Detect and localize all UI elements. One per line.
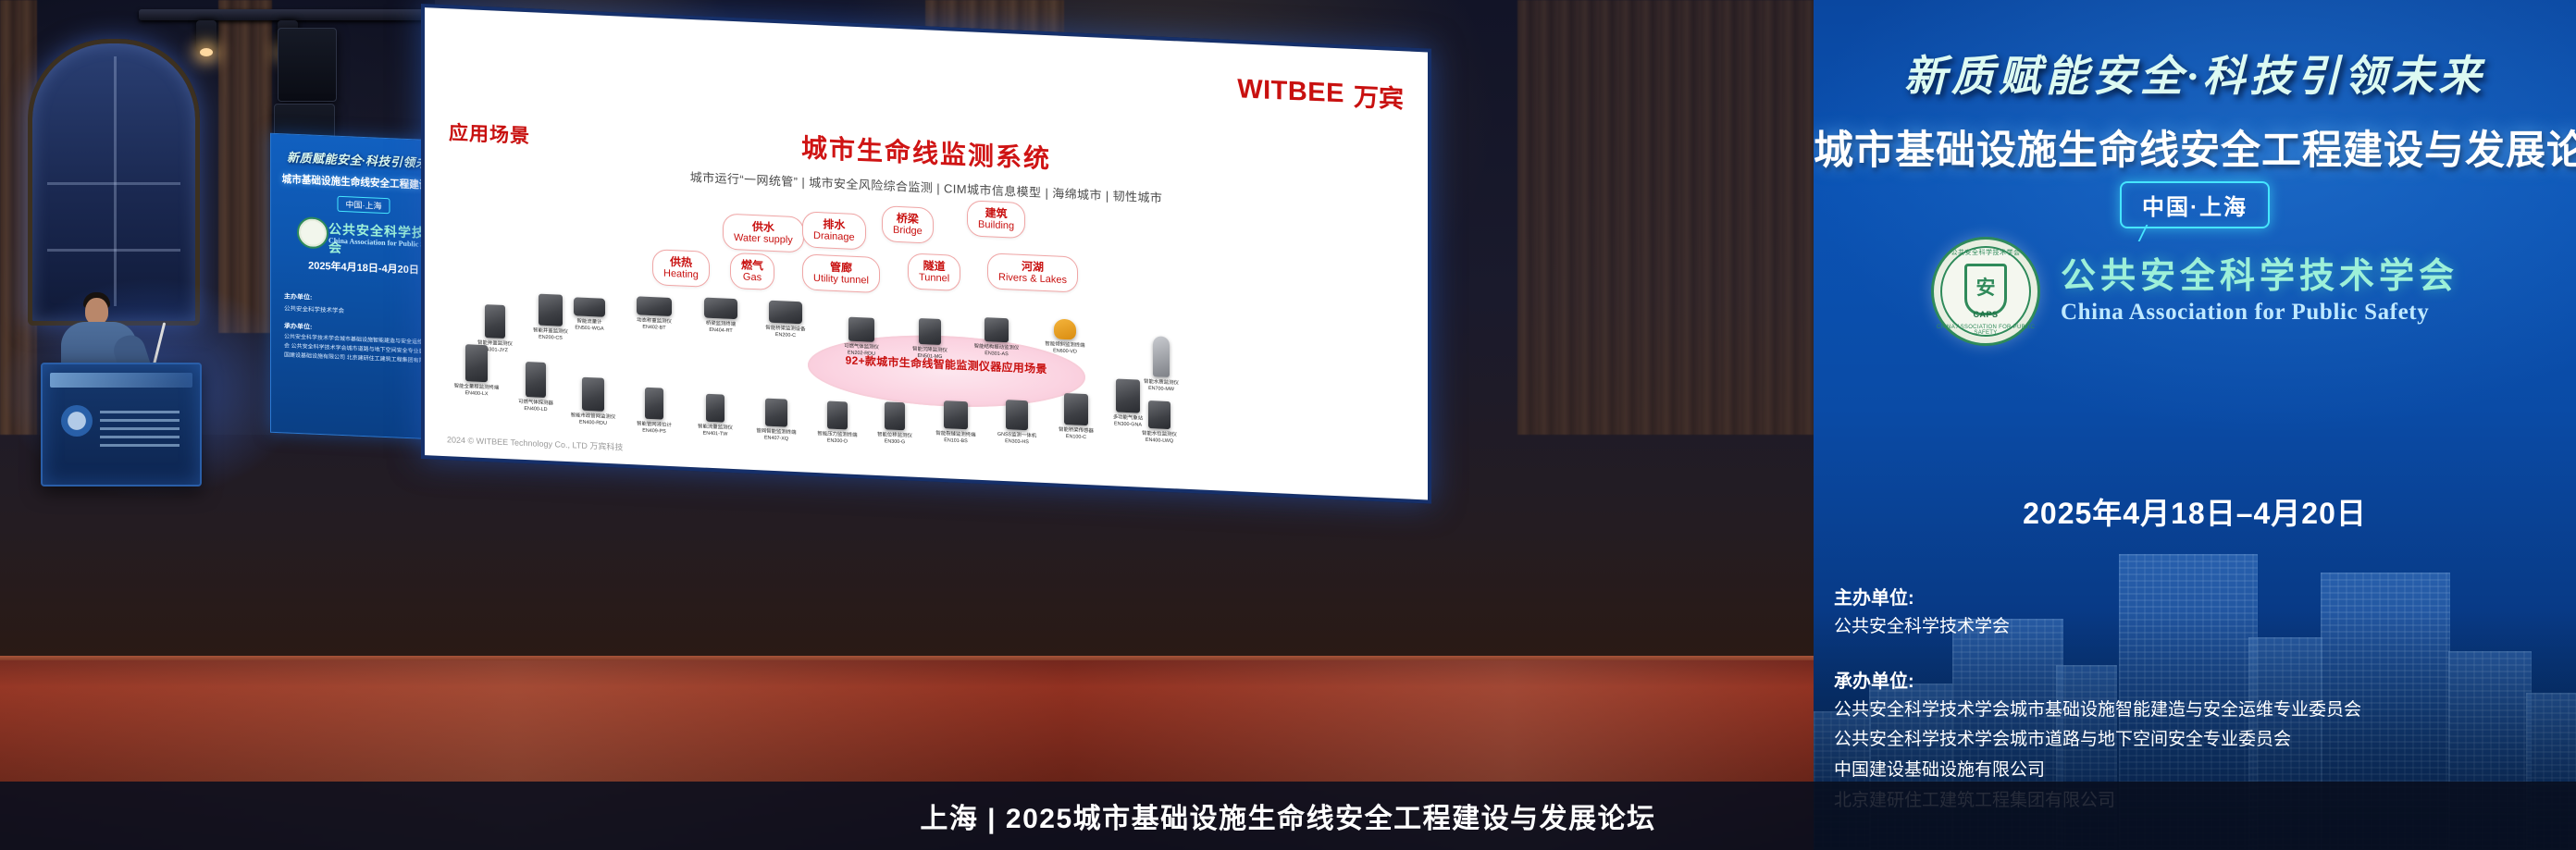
witbee-logo-cn: 万宾 [1354, 77, 1404, 115]
slide-copyright: 2024 © WITBEE Technology Co., LTD 万宾科技 [447, 433, 623, 452]
side-banner-coorg-label: 承办单位: [284, 321, 312, 331]
witbee-logo: WITBEE 万宾 [1237, 71, 1404, 115]
device-item: 动态称重监测仪 EN402-BT [621, 296, 687, 332]
side-banner-emblem-icon [297, 216, 328, 249]
caps-emblem-icon: 公共安全科学技术学会 安 CAPS CHINA ASSOCIATION FOR … [1931, 237, 2040, 346]
category-label-cn: 燃气 [741, 258, 763, 272]
device-item: 智能全量程监测终端 EN400-LX [443, 343, 510, 398]
device-item: 智能流量监测仪 EN401-TW [682, 393, 749, 438]
led-screen: WITBEE 万宾 应用场景 城市生命线监测系统 城市运行“一网统管” | 城市… [421, 4, 1431, 504]
side-banner-host-label: 主办单位: [284, 291, 312, 302]
category-label-en: Utility tunnel [813, 273, 869, 288]
category-label-en: Tunnel [919, 272, 949, 285]
device-item: GNSS监测一体机 EN303-HS [984, 399, 1050, 446]
category-bubble: 管廊 Utility tunnel [802, 253, 880, 293]
banner-forum-title: 城市基础设施生命线安全工程建设与发展论坛 [1814, 118, 2576, 176]
category-bubble: 供热 Heating [652, 249, 710, 288]
podium-header-strip [50, 373, 192, 388]
presentation-slide: WITBEE 万宾 应用场景 城市生命线监测系统 城市运行“一网统管” | 城市… [425, 7, 1428, 499]
event-dates: 2025年4月18日–4月20日 [1814, 490, 2576, 533]
coorganizer-name: 公共安全科学技术学会城市基础设施智能建造与安全运维专业委员会 [1834, 698, 2559, 722]
category-bubble: 排水 Drainage [802, 211, 866, 250]
host-label: 主办单位: [1834, 583, 2559, 610]
category-bubble: 供水 Water supply [723, 214, 804, 253]
wall-wood-far-right [1517, 0, 1832, 435]
emblem-arc-bottom: CHINA ASSOCIATION FOR PUBLIC SAFETY [1934, 325, 2037, 336]
category-label-cn: 隧道 [919, 259, 949, 274]
association-name-cn: 公共安全科学技术学会 [2061, 257, 2458, 298]
device-item: 智能桥梁监测设备 EN200-C [752, 300, 819, 339]
spotlight-icon-1 [196, 20, 217, 52]
device-item: 智能水质监测仪 EN700-MW [1128, 335, 1195, 393]
category-label-en: Drainage [813, 230, 855, 244]
device-item: 智能位移监测仪 EN300-G [861, 400, 928, 446]
device-item: 智能沉降监测仪 EN501-MG [897, 317, 963, 361]
category-label-en: Water supply [734, 232, 793, 247]
speaker-cabinet-1 [278, 28, 337, 102]
coorganizer-name: 中国建设基础设施有限公司 [1834, 758, 2559, 782]
category-label-en: Building [978, 219, 1014, 233]
device-item: 智能市政管网监测仪 EN400-RDU [560, 376, 626, 427]
emblem-glyph: 安 [1975, 273, 1995, 301]
witbee-logo-en: WITBEE [1237, 74, 1344, 109]
device-item: 智能倾斜监测终端 EN600-VD [1032, 317, 1098, 355]
side-banner-host: 公共安全科学技术学会 [284, 302, 344, 314]
podium-emblem-icon [61, 405, 93, 437]
device-item: 可燃气体监测仪 EN202-RDU [828, 316, 895, 358]
device-item: 智能结构振动监测仪 EN301-AS [963, 316, 1030, 358]
event-banner: 新质赋能安全·科技引领未来 城市基础设施生命线安全工程建设与发展论坛 中国·上海… [1814, 0, 2576, 850]
category-label-en: Bridge [893, 225, 923, 238]
device-item: 智能水位监测仪 EN400-LWQ [1126, 400, 1193, 445]
conference-stage-photo: 新质赋能安全·科技引领未来 城市基础设施生命线安全工程建设与发展论坛 中国·上海… [0, 0, 2576, 850]
category-bubble: 燃气 Gas [730, 253, 774, 290]
category-bubble: 建筑 Building [967, 200, 1025, 239]
category-label-en: Heating [663, 268, 699, 282]
association-name-en: China Association for Public Safety [2061, 300, 2458, 326]
emblem-abbr: CAPS [1934, 310, 2037, 319]
category-bubble: 隧道 Tunnel [908, 253, 960, 291]
device-item: 智能管网液位计 EN409-PS [621, 387, 687, 436]
coorganizer-label: 承办单位: [1834, 666, 2559, 693]
podium-text-lines [100, 411, 180, 448]
coorganizer-name: 公共安全科学技术学会城市道路与地下空间安全专业委员会 [1834, 728, 2559, 752]
emblem-arc-top: 公共安全科学技术学会 [1934, 248, 2037, 257]
host-name: 公共安全科学技术学会 [1834, 615, 2559, 639]
category-label-cn: 桥梁 [893, 212, 923, 227]
podium [41, 363, 202, 487]
association-block: 公共安全科学技术学会 安 CAPS CHINA ASSOCIATION FOR … [1814, 237, 2576, 346]
device-item: 管网智能监测终端 EN407-XQ [743, 397, 810, 442]
device-item: 智能裂缝监测终端 EN101-BS [923, 400, 989, 445]
side-banner-location-badge: 中国·上海 [338, 196, 390, 214]
banner-calligraphy-title: 新质赋能安全·科技引领未来 [1814, 43, 2576, 104]
category-bubble: 桥梁 Bridge [882, 205, 934, 244]
presenter-head [85, 298, 108, 325]
category-bubble: 河湖 Rivers & Lakes [987, 253, 1078, 292]
location-badge: 中国·上海 [2120, 181, 2270, 228]
device-item: 桥梁监测终端 EN404-RT [687, 297, 754, 335]
association-text: 公共安全科学技术学会 China Association for Public … [2061, 257, 2458, 326]
caption-bar: 上海 | 2025城市基础设施生命线安全工程建设与发展论坛 [0, 782, 2576, 850]
caption-text: 上海 | 2025城市基础设施生命线安全工程建设与发展论坛 [920, 795, 1655, 836]
device-item: 智能流量计 EN501-WGA [556, 297, 623, 333]
category-label-en: Rivers & Lakes [998, 272, 1067, 287]
category-label-en: Gas [741, 272, 763, 285]
